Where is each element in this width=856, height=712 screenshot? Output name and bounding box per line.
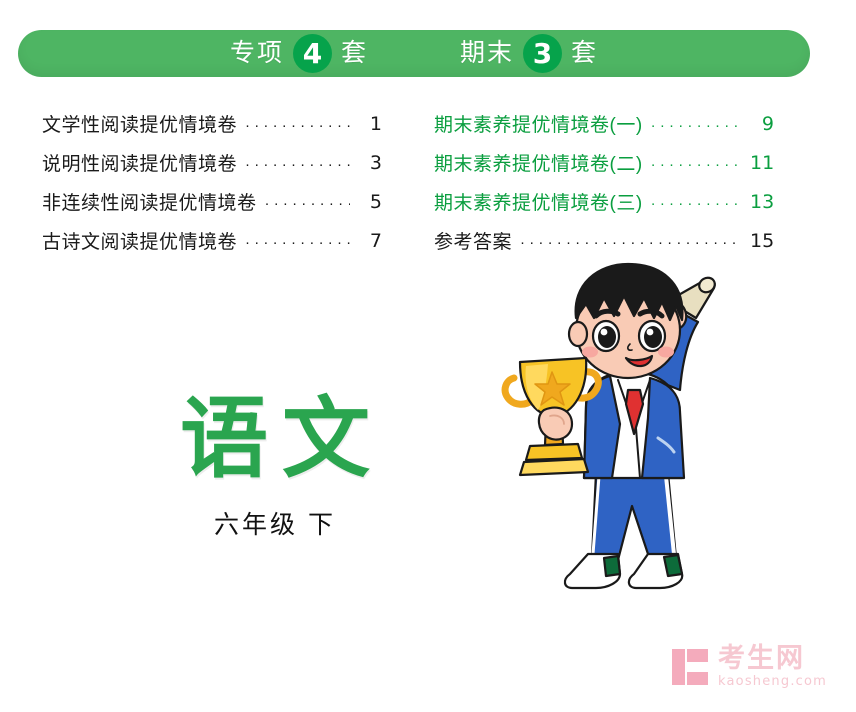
mascot-shoe-right (629, 554, 682, 588)
toc-column-left: 文学性阅读提优情境卷 ·············· 1 说明性阅读提优情境卷 ·… (42, 104, 382, 260)
subject-grade: 六年级 下 (130, 505, 420, 541)
count-badge-special: 4 (293, 34, 332, 73)
toc-entry-title: 非连续性阅读提优情境卷 (42, 188, 257, 215)
mascot-illustration (500, 258, 740, 613)
toc-entry[interactable]: 说明性阅读提优情境卷 ·············· 3 (42, 143, 382, 182)
toc-entry[interactable]: 期末素养提优情境卷(一) ·········· 9 (434, 104, 774, 143)
watermark-logo: 考生网 kaosheng.com (672, 645, 827, 688)
toc-entry[interactable]: 期末素养提优情境卷(三) ·········· 13 (434, 182, 774, 221)
toc-entry-answers[interactable]: 参考答案 ·························· 15 (434, 221, 774, 260)
header-banner: 专项 4 套 期末 3 套 (18, 30, 810, 77)
toc-dot-leader: ·········· (651, 118, 742, 133)
toc-dot-leader: ·········· (651, 196, 742, 211)
toc-entry-title: 文学性阅读提优情境卷 (42, 110, 237, 137)
watermark-cn-text: 考生网 (718, 645, 827, 672)
banner-label-suffix-final: 套 (571, 41, 598, 66)
toc-dot-leader: ··········· (265, 196, 350, 211)
banner-group-special: 专项 4 套 (230, 34, 368, 73)
toc-entry-page: 1 (358, 113, 382, 135)
toc-dot-leader: ·············· (245, 118, 350, 133)
toc-dot-leader: ·············· (245, 235, 350, 250)
toc-entry-page: 9 (750, 113, 774, 135)
banner-label-prefix-special: 专项 (230, 41, 284, 66)
toc-entry-page: 11 (750, 152, 774, 174)
toc-dot-leader: ·············· (245, 157, 350, 172)
banner-group-final: 期末 3 套 (460, 34, 598, 73)
toc-entry-title: 参考答案 (434, 227, 512, 254)
toc-column-right: 期末素养提优情境卷(一) ·········· 9 期末素养提优情境卷(二) ·… (434, 104, 774, 260)
toc-entry[interactable]: 古诗文阅读提优情境卷 ·············· 7 (42, 221, 382, 260)
toc-entry-title: 期末素养提优情境卷(二) (434, 149, 643, 176)
toc-entry-page: 5 (358, 191, 382, 213)
toc-entry-page: 7 (358, 230, 382, 252)
mascot-jacket-right (642, 378, 684, 478)
watermark-url-text: kaosheng.com (718, 675, 827, 688)
toc-entry[interactable]: 文学性阅读提优情境卷 ·············· 1 (42, 104, 382, 143)
toc-entry-page: 13 (750, 191, 774, 213)
toc-entry-page: 3 (358, 152, 382, 174)
toc-dot-leader: ·········· (651, 157, 742, 172)
toc-entry-title: 期末素养提优情境卷(一) (434, 110, 643, 137)
toc-entry-title: 说明性阅读提优情境卷 (42, 149, 237, 176)
banner-label-prefix-final: 期末 (460, 41, 514, 66)
toc-entry-page: 15 (750, 230, 774, 252)
subject-title: 语文 (130, 395, 420, 483)
count-badge-final: 3 (523, 34, 562, 73)
mascot-trousers (592, 473, 676, 560)
mascot-left-hand (539, 408, 572, 440)
subject-block: 语文 六年级 下 (130, 395, 420, 541)
toc-entry[interactable]: 非连续性阅读提优情境卷 ··········· 5 (42, 182, 382, 221)
toc-entry-title: 期末素养提优情境卷(三) (434, 188, 643, 215)
banner-label-suffix-special: 套 (341, 41, 368, 66)
toc-entry-title: 古诗文阅读提优情境卷 (42, 227, 237, 254)
toc-dot-leader: ·························· (520, 235, 742, 250)
toc-entry[interactable]: 期末素养提优情境卷(二) ·········· 11 (434, 143, 774, 182)
mascot-shoe-left (565, 554, 620, 588)
kaosheng-mark-icon (672, 649, 708, 685)
